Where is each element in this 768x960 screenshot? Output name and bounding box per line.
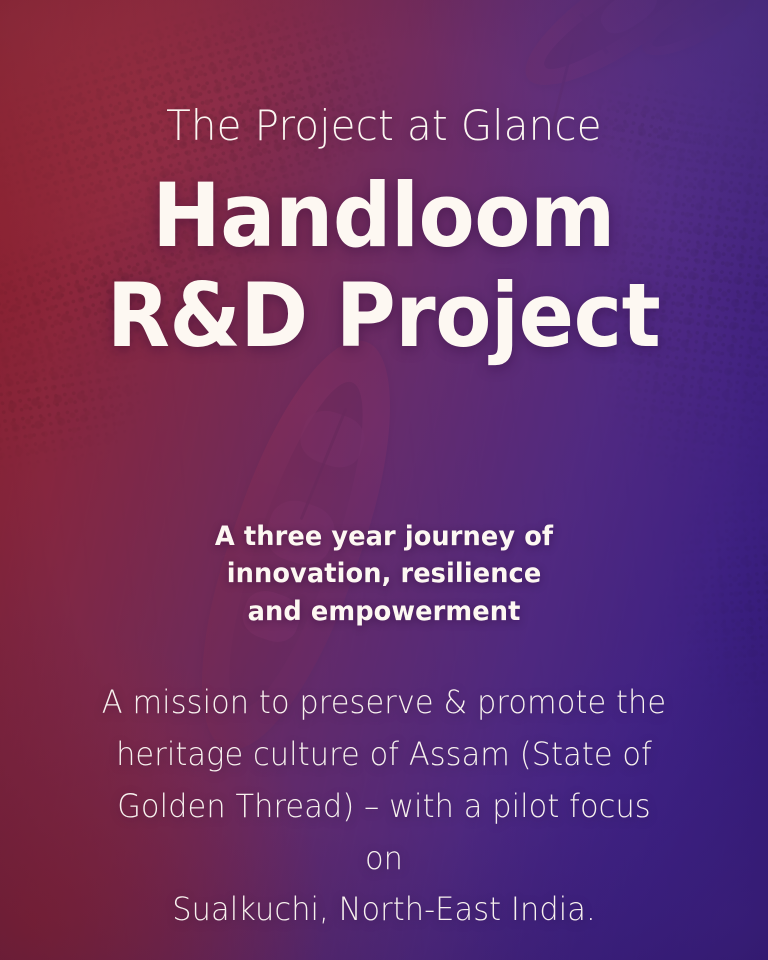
eyebrow-label: The Project at Glance: [166, 104, 602, 148]
body-line-3: Golden Thread) – with a pilot focus on: [99, 781, 669, 885]
headline-line-2: R&D Project: [107, 266, 660, 366]
headline-line-1: Handloom: [153, 164, 616, 267]
body-line-2: heritage culture of Assam (State of: [99, 729, 669, 781]
page-title: Handloom R&D Project: [107, 166, 660, 367]
subheadline-line-1: A three year journey of: [215, 518, 553, 556]
subheadline-line-2: innovation, resilience: [215, 555, 553, 593]
subheadline-line-3: and empowerment: [215, 593, 553, 631]
body-line-1: A mission to preserve & promote the: [99, 677, 669, 729]
subheadline: A three year journey of innovation, resi…: [215, 518, 553, 631]
body-line-4: Sualkuchi, North-East India.: [99, 884, 669, 936]
body-paragraph: A mission to preserve & promote the heri…: [99, 677, 669, 936]
poster-slide: The Project at Glance Handloom R&D Proje…: [0, 0, 768, 960]
poster-content: The Project at Glance Handloom R&D Proje…: [0, 0, 768, 960]
